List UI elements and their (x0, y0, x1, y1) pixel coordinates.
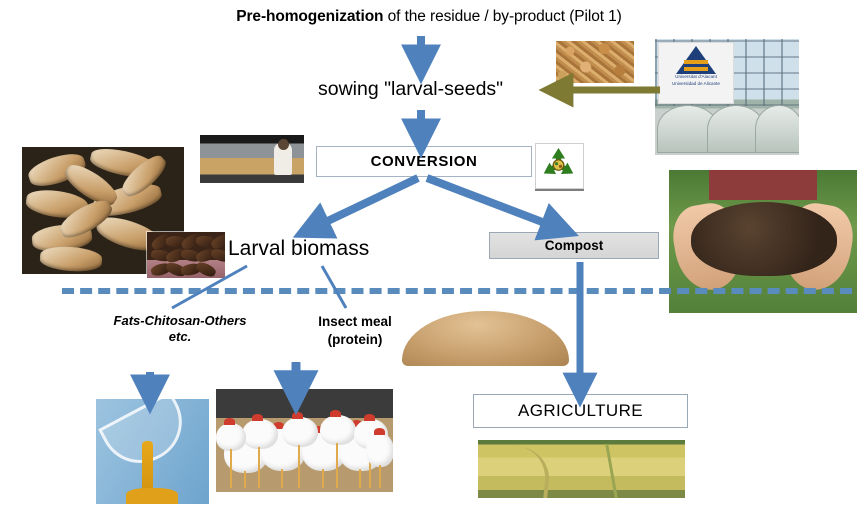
arrow-conversion-to-compost (427, 178, 558, 228)
arrow-layer (0, 0, 858, 506)
arrow-larval-biomass-to-fats (172, 266, 247, 308)
arrow-conversion-to-larval-biomass (313, 178, 418, 228)
diagram-canvas: Pre-homogenization of the residue / by-p… (0, 0, 858, 506)
arrow-larval-biomass-to-insect-meal (322, 266, 346, 308)
